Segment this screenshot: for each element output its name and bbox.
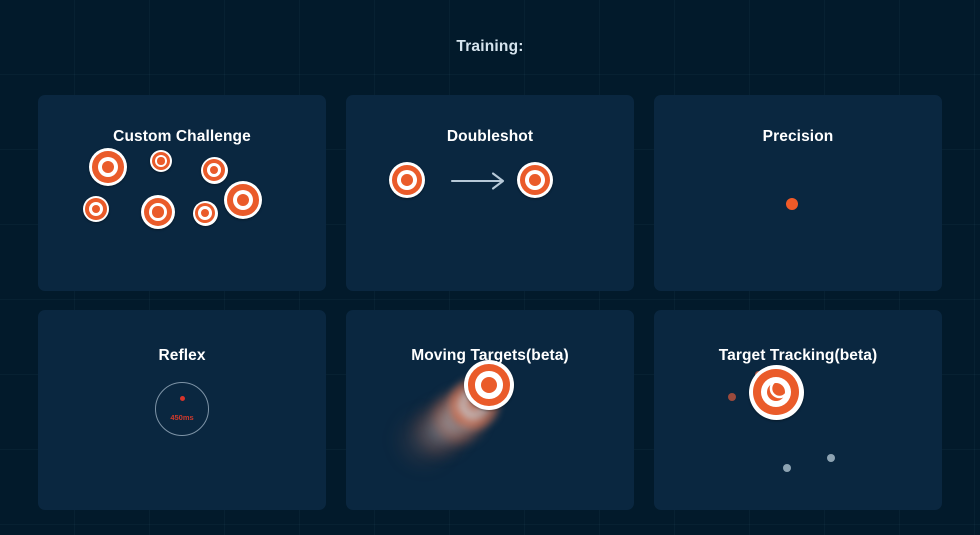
target-icon	[224, 181, 262, 219]
target-icon	[89, 148, 127, 186]
target-icon	[517, 162, 553, 198]
precision-dot-icon	[786, 198, 798, 210]
reflex-ring-icon	[155, 382, 209, 436]
arrow-right-icon	[450, 170, 512, 195]
target-icon	[193, 201, 218, 226]
tracking-satellite-dot	[728, 393, 736, 401]
target-icon	[464, 360, 514, 410]
target-icon	[83, 196, 109, 222]
training-modes-grid: Custom Challenge Doubleshot	[38, 95, 942, 510]
reflex-dot-icon	[180, 396, 185, 401]
art-motion-blur-target	[346, 310, 634, 510]
art-multiple-targets	[38, 95, 326, 291]
target-icon	[389, 162, 425, 198]
reflex-time-label: 450ms	[170, 413, 193, 422]
target-icon	[749, 365, 804, 420]
target-icon	[150, 150, 172, 172]
tracking-orbit-icon	[749, 365, 804, 420]
tracking-satellite-dot	[827, 454, 835, 462]
art-single-dot	[654, 95, 942, 291]
art-timer-ring: 450ms	[38, 310, 326, 510]
card-precision[interactable]: Precision	[654, 95, 942, 291]
card-reflex[interactable]: Reflex 450ms	[38, 310, 326, 510]
page-background: Training: Custom Challenge Doubleshot	[0, 0, 980, 535]
card-target-tracking[interactable]: Target Tracking(beta)	[654, 310, 942, 510]
art-tracking-target	[654, 310, 942, 510]
page-title: Training:	[0, 38, 980, 56]
card-doubleshot[interactable]: Doubleshot	[346, 95, 634, 291]
target-icon	[141, 195, 175, 229]
art-two-targets-arrow	[346, 95, 634, 291]
card-custom-challenge[interactable]: Custom Challenge	[38, 95, 326, 291]
tracking-satellite-dot	[783, 464, 791, 472]
target-icon	[201, 157, 228, 184]
card-moving-targets[interactable]: Moving Targets(beta)	[346, 310, 634, 510]
